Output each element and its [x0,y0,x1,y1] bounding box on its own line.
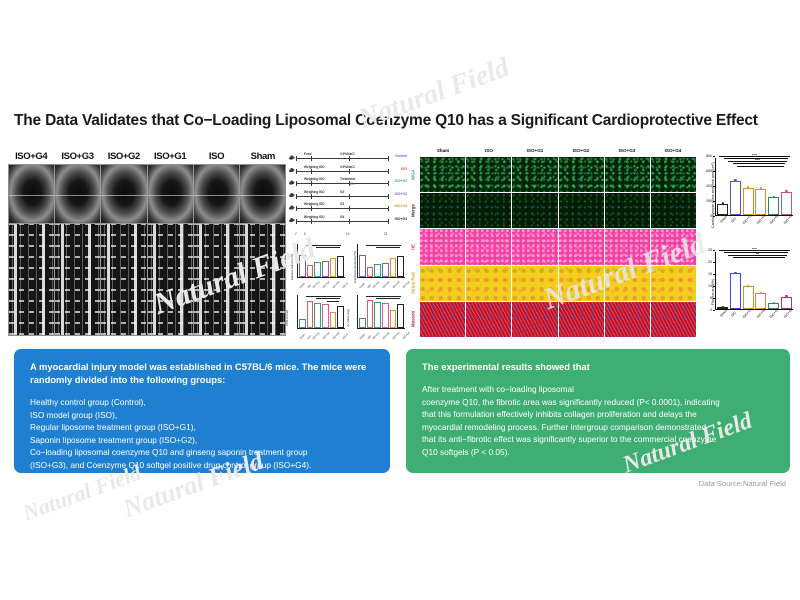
histo-col-label: Sham [420,148,466,157]
histology-row-labels: WGA Merge HE Sirius Red Masson [406,157,420,337]
histology-image-grid [420,157,696,337]
timeline-axis [296,221,388,222]
bar-label: ISO+G3 [332,332,341,341]
bar-label: ISO+G3 [392,281,401,290]
callout-line: Q10 softgels (P < 0.05). [422,446,774,459]
bars [299,297,344,328]
echo-b-mode-image [240,165,285,223]
bars [359,246,404,277]
methods-callout-heading: A myocardial injury model was establishe… [30,361,374,387]
bar [322,304,329,328]
histology-image [512,229,557,264]
y-tick-label: 15 [708,272,712,276]
timeline-mid-label: 0.9%NaCl [340,165,355,169]
y-tick-label: 600 [706,169,712,173]
x-axis-labels: ShamISOISO+G1ISO+G2ISO+G3ISO+G4 [299,338,344,341]
timeline-pre-label: Weighing ISO [304,177,325,181]
timeline-axis [296,171,388,172]
bar [374,302,381,328]
bar-label: ISO+G1 [312,281,321,290]
echo-column [148,165,193,335]
echo-b-mode-image [101,165,146,223]
cardiac-function-charts: Ejection fraction (%)ShamISOISO+G1ISO+G2… [288,242,406,342]
timeline-mid-label: G4 [340,215,344,219]
echo-m-mode-image [9,224,54,335]
histology-image [512,157,557,192]
histology-image [466,229,511,264]
callout-line: ISO model group (ISO), [30,409,374,422]
timeline-pre-label: Weighing ISO [304,165,325,169]
y-tick-label: 200 [706,199,712,203]
timeline-tick-label: -7 [294,232,297,236]
histology-panel: Sham ISO ISO+G1 ISO+G2 ISO+G3 ISO+G4 WGA… [406,148,696,340]
timeline-pre-label: Weighing ISO [304,202,325,206]
y-tick-label: 25 [708,248,712,252]
histology-image [559,266,604,301]
y-axis [357,295,358,329]
y-tick-label: 5 [710,296,712,300]
bar [359,318,366,328]
histology-image [651,193,696,228]
histology-row-he [420,229,696,264]
timeline-axis [296,196,388,197]
bar [337,306,344,328]
bar [382,263,389,277]
echo-col-label: ISO+G3 [54,151,100,162]
echo-column-headers: ISO+G4 ISO+G3 ISO+G2 ISO+G1 ISO Sham [8,148,286,162]
echo-image-grid [8,164,286,336]
methods-callout-body: Healthy control group (Control),ISO mode… [30,396,374,472]
y-axis-title: LVID;d (mm) [285,309,289,325]
callout-line: Saponin liposome treatment group (ISO+G2… [30,434,374,447]
bars [717,262,792,309]
histology-body: WGA Merge HE Sirius Red Masson [406,157,696,337]
bar-label: ISO+G2 [382,332,391,341]
bar [743,286,754,309]
significance-brackets: ******************* [718,155,791,168]
echo-m-mode-image [194,224,239,335]
histology-column-headers: Sham ISO ISO+G1 ISO+G2 ISO+G3 ISO+G4 [420,148,696,157]
callout-line: myocardial remodeling process. Further i… [422,421,774,434]
callout-line: that its anti−fibrotic effect was signif… [422,433,774,446]
bars [717,168,792,215]
bar [768,197,779,215]
callout-line: Healthy control group (Control), [30,396,374,409]
bar [314,303,321,328]
mouse-icon [288,204,295,211]
chart-ejection-fraction: Ejection fraction (%)ShamISOISO+G1ISO+G2… [288,242,346,291]
echo-m-mode-image [148,224,193,335]
bar [397,304,404,328]
histology-image [605,302,650,337]
chart-cardiomyocyte-cross-sectional-area: Cardiomyocyte cross-sectional area(μm²)0… [698,154,796,242]
bar [330,312,337,328]
bar-label: ISO+G3 [392,332,401,341]
y-axis [297,244,298,278]
histology-image [420,229,465,264]
bar-label: Sham [359,282,366,289]
chart-left-ventricular-internal-diameter-diastole: LVID;d (mm)ShamISOISO+G1ISO+G2ISO+G3ISO+… [288,293,346,342]
data-source-note: Data Source:Natural Field [699,479,786,488]
x-axis [297,277,345,278]
callout-line: that this formulation effectively inhibi… [422,408,774,421]
histology-image [559,302,604,337]
chart-left-ventricular-mass: LV mass (mg)ShamISOISO+G1ISO+G2ISO+G3ISO… [348,293,406,342]
histology-row-masson [420,302,696,337]
y-axis [715,252,716,310]
echo-column [101,165,146,335]
echo-col-label: ISO+G2 [101,151,147,162]
histology-image [466,193,511,228]
histo-col-label: ISO+G1 [512,148,558,157]
echo-b-mode-image [55,165,100,223]
x-axis-labels: ShamISOISO+G1ISO+G2ISO+G3ISO+G4 [359,338,404,341]
bar [359,255,366,277]
histology-image [605,229,650,264]
y-axis-title: LV mass (mg) [346,309,350,327]
bar-label: ISO+G2 [322,332,331,341]
histology-image [559,193,604,228]
bar [307,301,314,328]
histo-row-label-merge: Merge [406,193,420,229]
histology-image [466,157,511,192]
y-axis [357,244,358,278]
timeline-axis [296,183,388,184]
timeline-row: Weighing ISOG4ISO+G4 [288,215,406,228]
histology-image [420,193,465,228]
callout-line: Co−loading liposomal coenzyme Q10 and gi… [30,446,374,459]
timeline-row: Weighing ISO0.9%NaClISO [288,165,406,178]
y-axis [715,158,716,216]
bar [730,181,741,215]
timeline-row: Weighing ISOTreatmentISO+G1G1 [288,177,406,190]
x-axis [357,277,405,278]
bar-label: Sham [299,282,306,289]
histology-image [651,157,696,192]
timeline-mid-label: Treatment [340,177,355,181]
histo-row-label-masson: Masson [406,301,420,337]
echo-b-mode-image [194,165,239,223]
bar [755,293,766,309]
slide-root: Natural Field Natural Field Natural Fiel… [0,0,800,600]
echo-column [194,165,239,335]
timeline-treatment-label: G1 [350,182,354,186]
chart-fibrosis-area: Fibrosis area(%)0510152025************Sh… [698,248,796,336]
histology-image [605,266,650,301]
timeline-row: Weighing ISOG2ISO+G2 [288,190,406,203]
histology-row-merge [420,193,696,228]
bar-label: ISO+G1 [312,332,321,341]
bar [397,256,404,277]
histology-image [605,157,650,192]
echo-col-label: ISO+G4 [8,151,54,162]
bar [717,204,728,215]
y-tick-label: 10 [708,284,712,288]
echocardiography-panel: ISO+G4 ISO+G3 ISO+G2 ISO+G1 ISO Sham [8,148,286,338]
bar [367,267,374,277]
timeline-tick-label: 21 [384,232,388,236]
echo-column [240,165,285,335]
x-axis-labels: ShamISOISO+G1ISO+G2ISO+G3ISO+G4 [717,310,792,334]
echo-col-label: ISO [193,151,239,162]
y-axis [297,295,298,329]
middle-panel: Feed0.9%NaClControlWeighing ISO0.9%NaClI… [288,152,406,338]
mouse-icon [288,192,295,199]
bar-label: ISO+G1 [372,281,381,290]
histo-col-label: ISO+G3 [604,148,650,157]
bar [390,310,397,328]
bar [755,189,766,215]
mouse-icon [288,217,295,224]
timeline-axis-ticks: -701421 [288,232,406,239]
bar [299,255,306,277]
bar [730,273,741,309]
bar [743,188,754,215]
bars [299,246,344,277]
timeline-tick-label: 0 [304,232,306,236]
bar [382,303,389,328]
chart-fractional-shortening: Fractional shortening (%)ShamISOISO+G1IS… [348,242,406,291]
histo-col-label: ISO+G4 [650,148,696,157]
histology-image [512,266,557,301]
echo-column [55,165,100,335]
timeline-tick-label: 14 [346,232,350,236]
timeline-mid-label: G3 [340,202,344,206]
timeline-mid-label: 0.9%NaCl [340,152,355,156]
timeline-row: Weighing ISOG3ISO+G3 [288,202,406,215]
histology-image [466,302,511,337]
bar-label: Sham [359,333,366,340]
bar [374,264,381,277]
y-tick-label: 0 [710,214,712,218]
histology-row-wga [420,157,696,192]
methods-callout: A myocardial injury model was establishe… [14,349,390,473]
histology-image [651,266,696,301]
echo-m-mode-image [240,224,285,335]
y-axis-ticks: 0510152025 [700,250,714,310]
histology-image [420,266,465,301]
echo-col-label: ISO+G1 [147,151,193,162]
results-callout-heading: The experimental results showed that [422,361,774,374]
results-callout: The experimental results showed that Aft… [406,349,790,473]
histo-row-label-sirius: Sirius Red [406,265,420,301]
histo-row-label-he: HE [406,229,420,265]
x-axis [297,328,345,329]
bars [359,297,404,328]
mouse-icon [288,179,295,186]
bar [299,319,306,328]
bar [337,256,344,277]
timeline-pre-label: Weighing ISO [304,190,325,194]
histology-image [420,157,465,192]
y-tick-label: 400 [706,184,712,188]
callout-line: After treatment with co−loading liposoma… [422,383,774,396]
bar [781,192,792,216]
x-axis-labels: ShamISOISO+G1ISO+G2ISO+G3ISO+G4 [717,216,792,240]
timeline-axis [296,158,388,159]
histology-image [466,266,511,301]
echo-column [9,165,54,335]
mouse-icon [288,154,295,161]
echo-b-mode-image [9,165,54,223]
timeline-mid-label: G2 [340,190,344,194]
histology-image [605,193,650,228]
histology-row-sirius-red [420,266,696,301]
experimental-timeline: Feed0.9%NaClControlWeighing ISO0.9%NaClI… [288,152,406,232]
histo-col-label: ISO [466,148,512,157]
x-axis [357,328,405,329]
timeline-axis [296,208,388,209]
timeline-pre-label: Feed [304,152,311,156]
echo-m-mode-image [101,224,146,335]
bar-label: Sham [299,333,306,340]
significance-brackets: ************ [718,249,791,262]
y-tick-label: 20 [708,260,712,264]
bar [314,262,321,277]
y-axis-title: Ejection fraction (%) [290,254,294,280]
echo-b-mode-image [148,165,193,223]
timeline-pre-label: Weighing ISO [304,215,325,219]
quantification-charts: Cardiomyocyte cross-sectional area(μm²)0… [698,154,796,338]
histo-row-label-wga: WGA [406,157,420,193]
timeline-row: Feed0.9%NaClControl [288,152,406,165]
results-callout-body: After treatment with co−loading liposoma… [422,383,774,459]
bar [322,261,329,277]
callout-line: Regular liposome treatment group (ISO+G1… [30,421,374,434]
callout-line: (ISO+G3), and Coenzyme Q10 softgel posit… [30,459,374,472]
histology-image [512,193,557,228]
histology-image [420,302,465,337]
callout-line: coenzyme Q10, the fibrotic area was sign… [422,396,774,409]
mouse-icon [288,167,295,174]
y-tick-label: 800 [706,154,712,158]
page-title: The Data Validates that Co−Loading Lipos… [14,112,789,130]
bar [307,265,314,277]
x-axis-labels: ShamISOISO+G1ISO+G2ISO+G3ISO+G4 [299,287,344,290]
histology-image [512,302,557,337]
histology-image [651,302,696,337]
histo-col-label: ISO+G2 [558,148,604,157]
histology-image [651,229,696,264]
x-axis-labels: ShamISOISO+G1ISO+G2ISO+G3ISO+G4 [359,287,404,290]
y-axis-ticks: 0200400600800 [700,156,714,216]
y-tick-label: 0 [710,308,712,312]
bar [330,258,337,277]
histology-image [559,229,604,264]
figure-region: ISO+G4 ISO+G3 ISO+G2 ISO+G1 ISO Sham [0,148,800,344]
bar-label: ISO+G1 [372,332,381,341]
bar [390,258,397,277]
bar-label: ISO+G3 [332,281,341,290]
echo-m-mode-image [55,224,100,335]
echo-col-label: Sham [240,151,286,162]
bar-label: ISO+G2 [382,281,391,290]
histology-image [559,157,604,192]
bar-label: ISO+G2 [322,281,331,290]
bar [367,300,374,328]
